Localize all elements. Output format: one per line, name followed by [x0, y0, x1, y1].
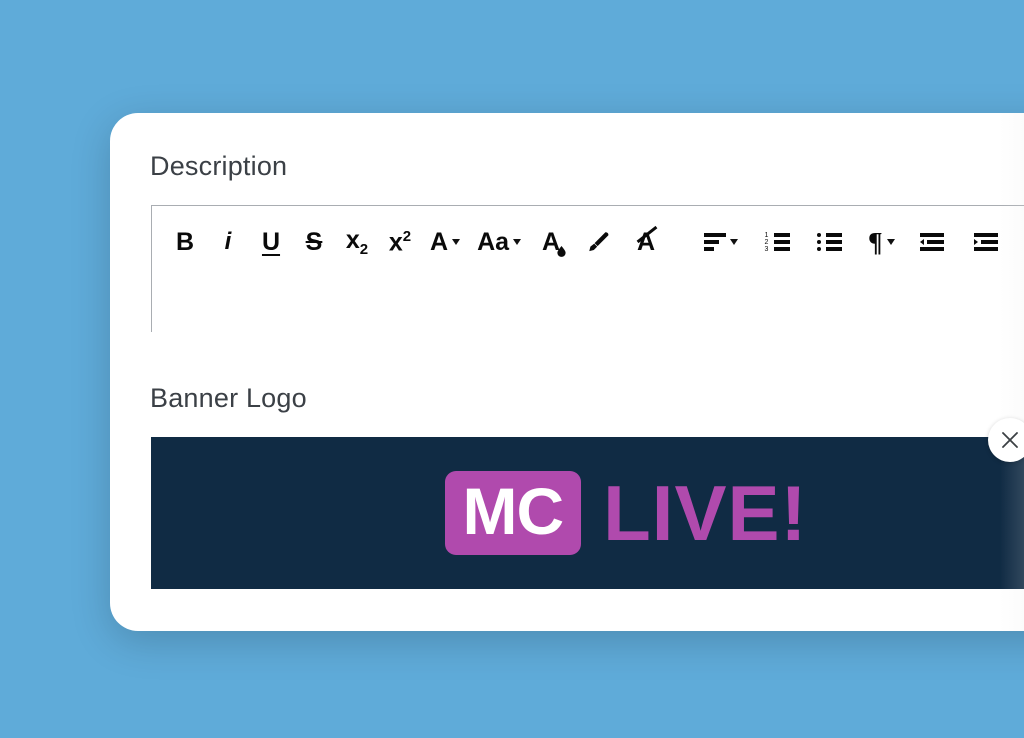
bullet-list-button[interactable] [812, 222, 846, 262]
increase-indent-button[interactable] [969, 222, 1003, 262]
subscript-icon: x2 [346, 228, 368, 257]
chevron-down-icon [887, 239, 895, 245]
paragraph-button[interactable]: ¶ [864, 222, 899, 262]
decrease-indent-button[interactable] [915, 222, 949, 262]
highlighter-pen-icon [585, 229, 611, 255]
editor-toolbar: B i U S x2 x2 A [152, 206, 1024, 278]
logo-mc-badge: MC [445, 471, 582, 555]
italic-icon: i [225, 230, 232, 254]
superscript-mark: 2 [403, 228, 411, 245]
description-editor-content[interactable] [152, 278, 1024, 332]
font-family-icon: A [430, 230, 448, 255]
decrease-indent-icon [920, 233, 944, 252]
font-size-button[interactable]: Aa [473, 222, 525, 262]
chevron-down-icon [452, 239, 460, 245]
strikethrough-button[interactable]: S [297, 222, 331, 262]
superscript-button[interactable]: x2 [383, 222, 417, 262]
pilcrow-icon: ¶ [868, 229, 883, 256]
logo-mc-text: MC [463, 480, 564, 543]
description-rich-text-editor[interactable]: B i U S x2 x2 A [151, 205, 1024, 332]
list-number-3: 3 [765, 247, 769, 252]
highlight-color-button[interactable] [581, 222, 615, 262]
subscript-base: x [346, 226, 360, 254]
list-number-2: 2 [765, 240, 769, 245]
chevron-down-icon [730, 239, 738, 245]
underline-icon: U [262, 230, 280, 255]
italic-button[interactable]: i [211, 222, 245, 262]
description-field-label: Description [150, 151, 287, 182]
underline-button[interactable]: U [254, 222, 288, 262]
banner-logo-field-label: Banner Logo [150, 383, 307, 414]
bold-icon: B [176, 230, 194, 255]
font-size-icon: Aa [477, 230, 509, 255]
subscript-mark: 2 [360, 241, 368, 258]
chevron-down-icon [513, 239, 521, 245]
close-icon [999, 429, 1021, 451]
increase-indent-icon [974, 233, 998, 252]
close-modal-button[interactable] [988, 418, 1024, 462]
align-left-icon [704, 233, 726, 252]
description-modal-card: Description B i U S x2 [110, 113, 1024, 631]
subscript-button[interactable]: x2 [340, 222, 374, 262]
color-droplet-icon [556, 245, 567, 257]
numbered-list-button[interactable]: 1 2 3 [760, 222, 794, 262]
strikethrough-icon: S [306, 230, 323, 255]
superscript-icon: x2 [389, 229, 411, 255]
align-button[interactable] [700, 222, 742, 262]
banner-logo-preview[interactable]: MC LIVE! [151, 437, 1024, 589]
bullet-list-icon [817, 233, 842, 252]
bold-button[interactable]: B [168, 222, 202, 262]
clear-format-button[interactable]: A [629, 222, 663, 262]
superscript-base: x [389, 228, 403, 256]
font-family-button[interactable]: A [426, 222, 464, 262]
numbered-list-icon: 1 2 3 [765, 233, 790, 252]
logo-live-text: LIVE! [603, 476, 807, 550]
mc-live-logo: MC LIVE! [445, 471, 808, 555]
list-number-1: 1 [765, 233, 769, 238]
font-color-button[interactable]: A [534, 222, 568, 262]
